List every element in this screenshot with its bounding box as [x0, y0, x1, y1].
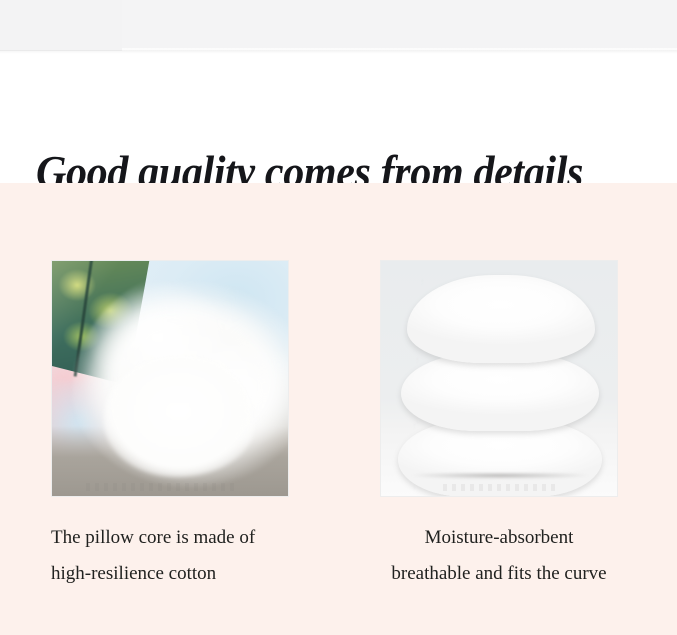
- pillow-insert-middle: [401, 353, 599, 431]
- feature-section: The pillow core is made of high-resilien…: [0, 183, 677, 635]
- feature-card-high-resilience-cotton: The pillow core is made of high-resilien…: [51, 260, 289, 592]
- loose-white-fiberfill-cotton-photo: [51, 260, 289, 497]
- pillow-insert-top: [407, 275, 595, 363]
- feature-caption: Moisture-absorbent breathable and fits t…: [380, 497, 618, 592]
- caption-line: Moisture-absorbent: [380, 520, 618, 556]
- feature-card-list: The pillow core is made of high-resilien…: [0, 183, 677, 635]
- header-band: Good quality comes from details: [0, 54, 677, 183]
- caption-line: breathable and fits the curve: [380, 556, 618, 592]
- browser-top-bar: [0, 0, 677, 50]
- photo-watermark: [86, 483, 236, 491]
- stacked-white-pillow-inserts-photo: [380, 260, 618, 497]
- feature-card-moisture-absorbent: Moisture-absorbent breathable and fits t…: [380, 260, 618, 592]
- pillow-stack-shadow: [411, 473, 589, 479]
- browser-tab[interactable]: [0, 0, 122, 51]
- caption-line: The pillow core is made of: [51, 520, 289, 556]
- product-detail-page: Good quality comes from details: [0, 0, 677, 635]
- photo-watermark: [443, 484, 559, 491]
- caption-line: high-resilience cotton: [51, 556, 289, 592]
- fiberfill-cloud-highlight: [104, 357, 254, 477]
- feature-caption: The pillow core is made of high-resilien…: [51, 497, 289, 592]
